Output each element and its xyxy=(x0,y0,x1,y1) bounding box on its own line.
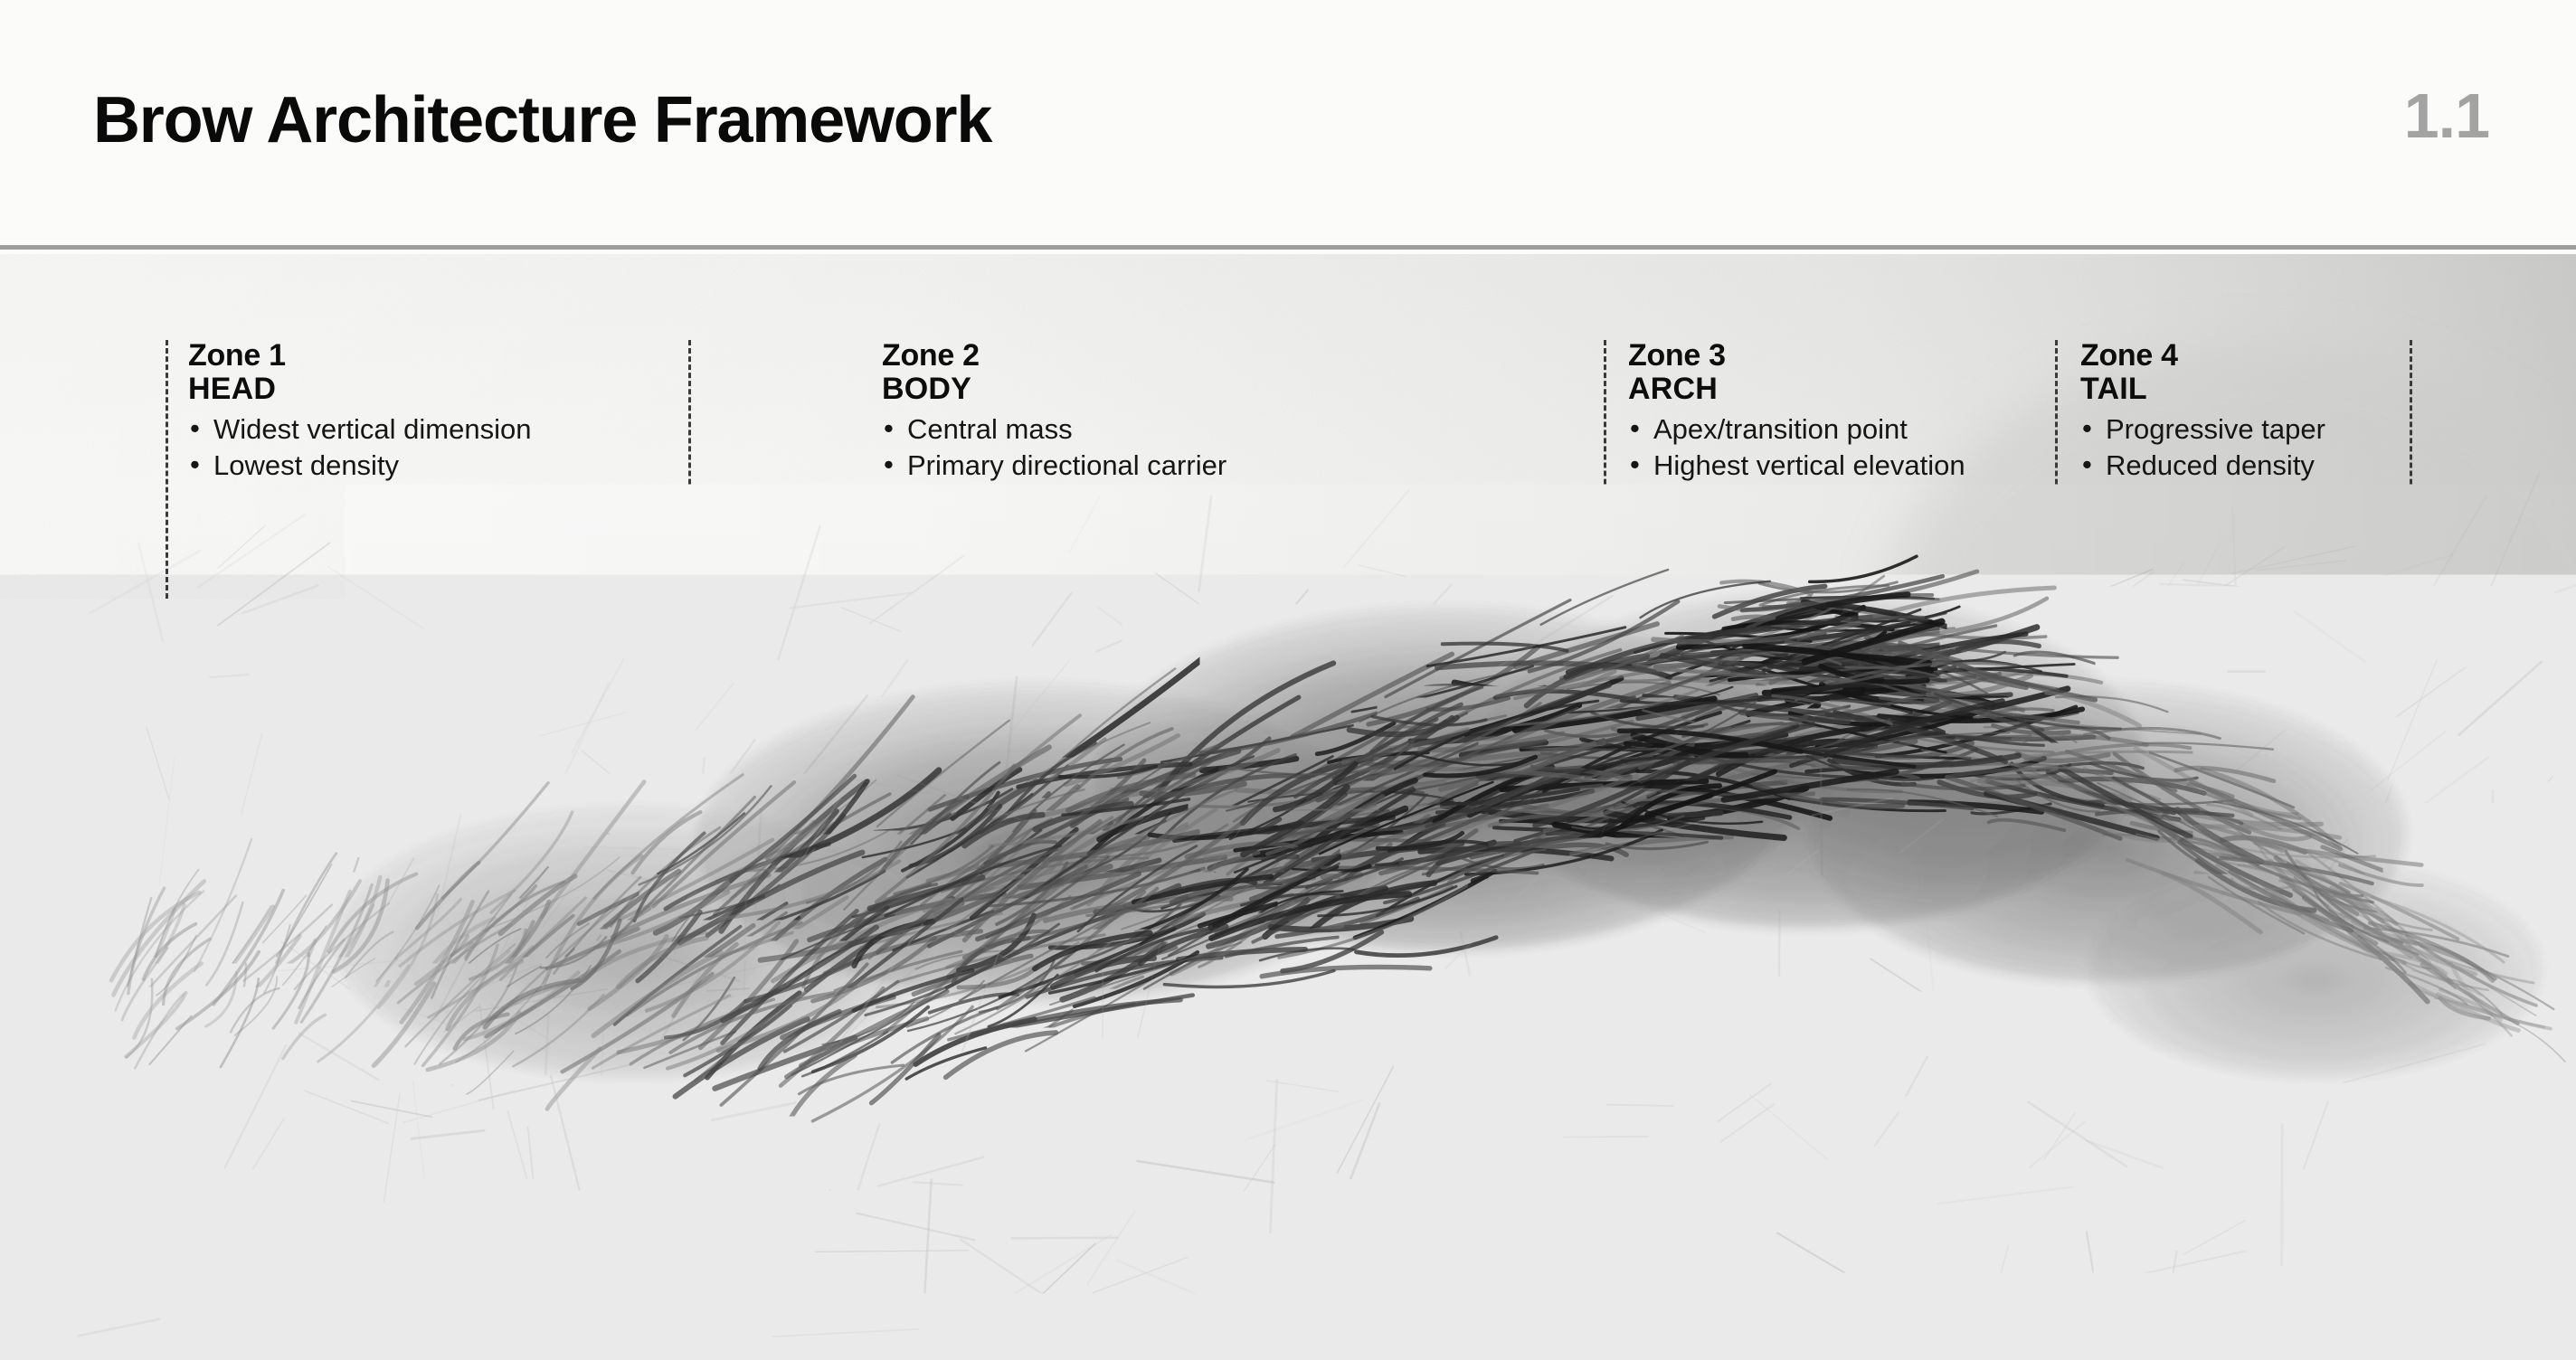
zone-3-percent: 15-20% xyxy=(1604,1163,2055,1204)
page-header: Brow Architecture Framework 1.1 xyxy=(0,0,2576,250)
zone-2-title: Zone 2 xyxy=(882,339,1461,372)
zone-1-bullet-1: Lowest density xyxy=(188,448,677,484)
footnote-note: Note: Proportions are approximate and va… xyxy=(0,1274,2576,1305)
zone-3-bullet-0: Apex/transition point xyxy=(1628,411,2035,448)
zone-3-bullet-1: Highest vertical elevation xyxy=(1628,448,2035,484)
zone-3-title: Zone 3 xyxy=(1628,339,2035,372)
zone-3-subtitle: ARCH xyxy=(1628,372,2035,406)
page-title: Brow Architecture Framework xyxy=(93,83,991,157)
zone-4-percent: 10-15% xyxy=(2055,1163,2407,1204)
zone-label-3: Zone 3 ARCH Apex/transition point Highes… xyxy=(1628,339,2035,484)
zone-2-bullet-2: Highest density xyxy=(882,484,1461,520)
zone-2-bullet-1: Primary directional carrier xyxy=(882,448,1461,484)
zone-4-title: Zone 4 xyxy=(2080,339,2442,372)
zone-2-bullet-0: Central mass xyxy=(882,411,1461,448)
brow-architecture-framework-page: Brow Architecture Framework 1.1 xyxy=(0,0,2576,1360)
zone-4-bullet-1: Reduced density xyxy=(2080,448,2442,484)
zone-label-2: Zone 2 BODY Central mass Primary directi… xyxy=(882,339,1461,520)
zone-label-4: Zone 4 TAIL Progressive taper Reduced de… xyxy=(2080,339,2442,484)
zone-4-bullet-list: Progressive taper Reduced density xyxy=(2080,411,2442,484)
zone-2-percent: 40-50% xyxy=(688,1163,1604,1204)
zone-1-bullet-0: Widest vertical dimension xyxy=(188,411,677,448)
zone-1-subtitle: HEAD xyxy=(188,372,677,406)
zone-divider-end xyxy=(2410,340,2412,1326)
page-number-badge: 1.1 xyxy=(2404,80,2489,152)
zone-3-bullet-list: Apex/transition point Highest vertical e… xyxy=(1628,411,2035,484)
zone-label-1: Zone 1 HEAD Widest vertical dimension Lo… xyxy=(188,339,677,484)
zone-1-bullet-list: Widest vertical dimension Lowest density xyxy=(188,411,677,484)
brow-photo-stage: Zone 1 HEAD Widest vertical dimension Lo… xyxy=(0,254,2576,1360)
zone-2-subtitle: BODY xyxy=(882,372,1461,406)
zone-2-bullet-list: Central mass Primary directional carrier… xyxy=(882,411,1461,520)
zone-1-percent: 20-25% xyxy=(168,1163,688,1204)
zone-1-title: Zone 1 xyxy=(188,339,677,372)
zone-4-bullet-0: Progressive taper xyxy=(2080,411,2442,448)
zone-4-subtitle: TAIL xyxy=(2080,372,2442,406)
